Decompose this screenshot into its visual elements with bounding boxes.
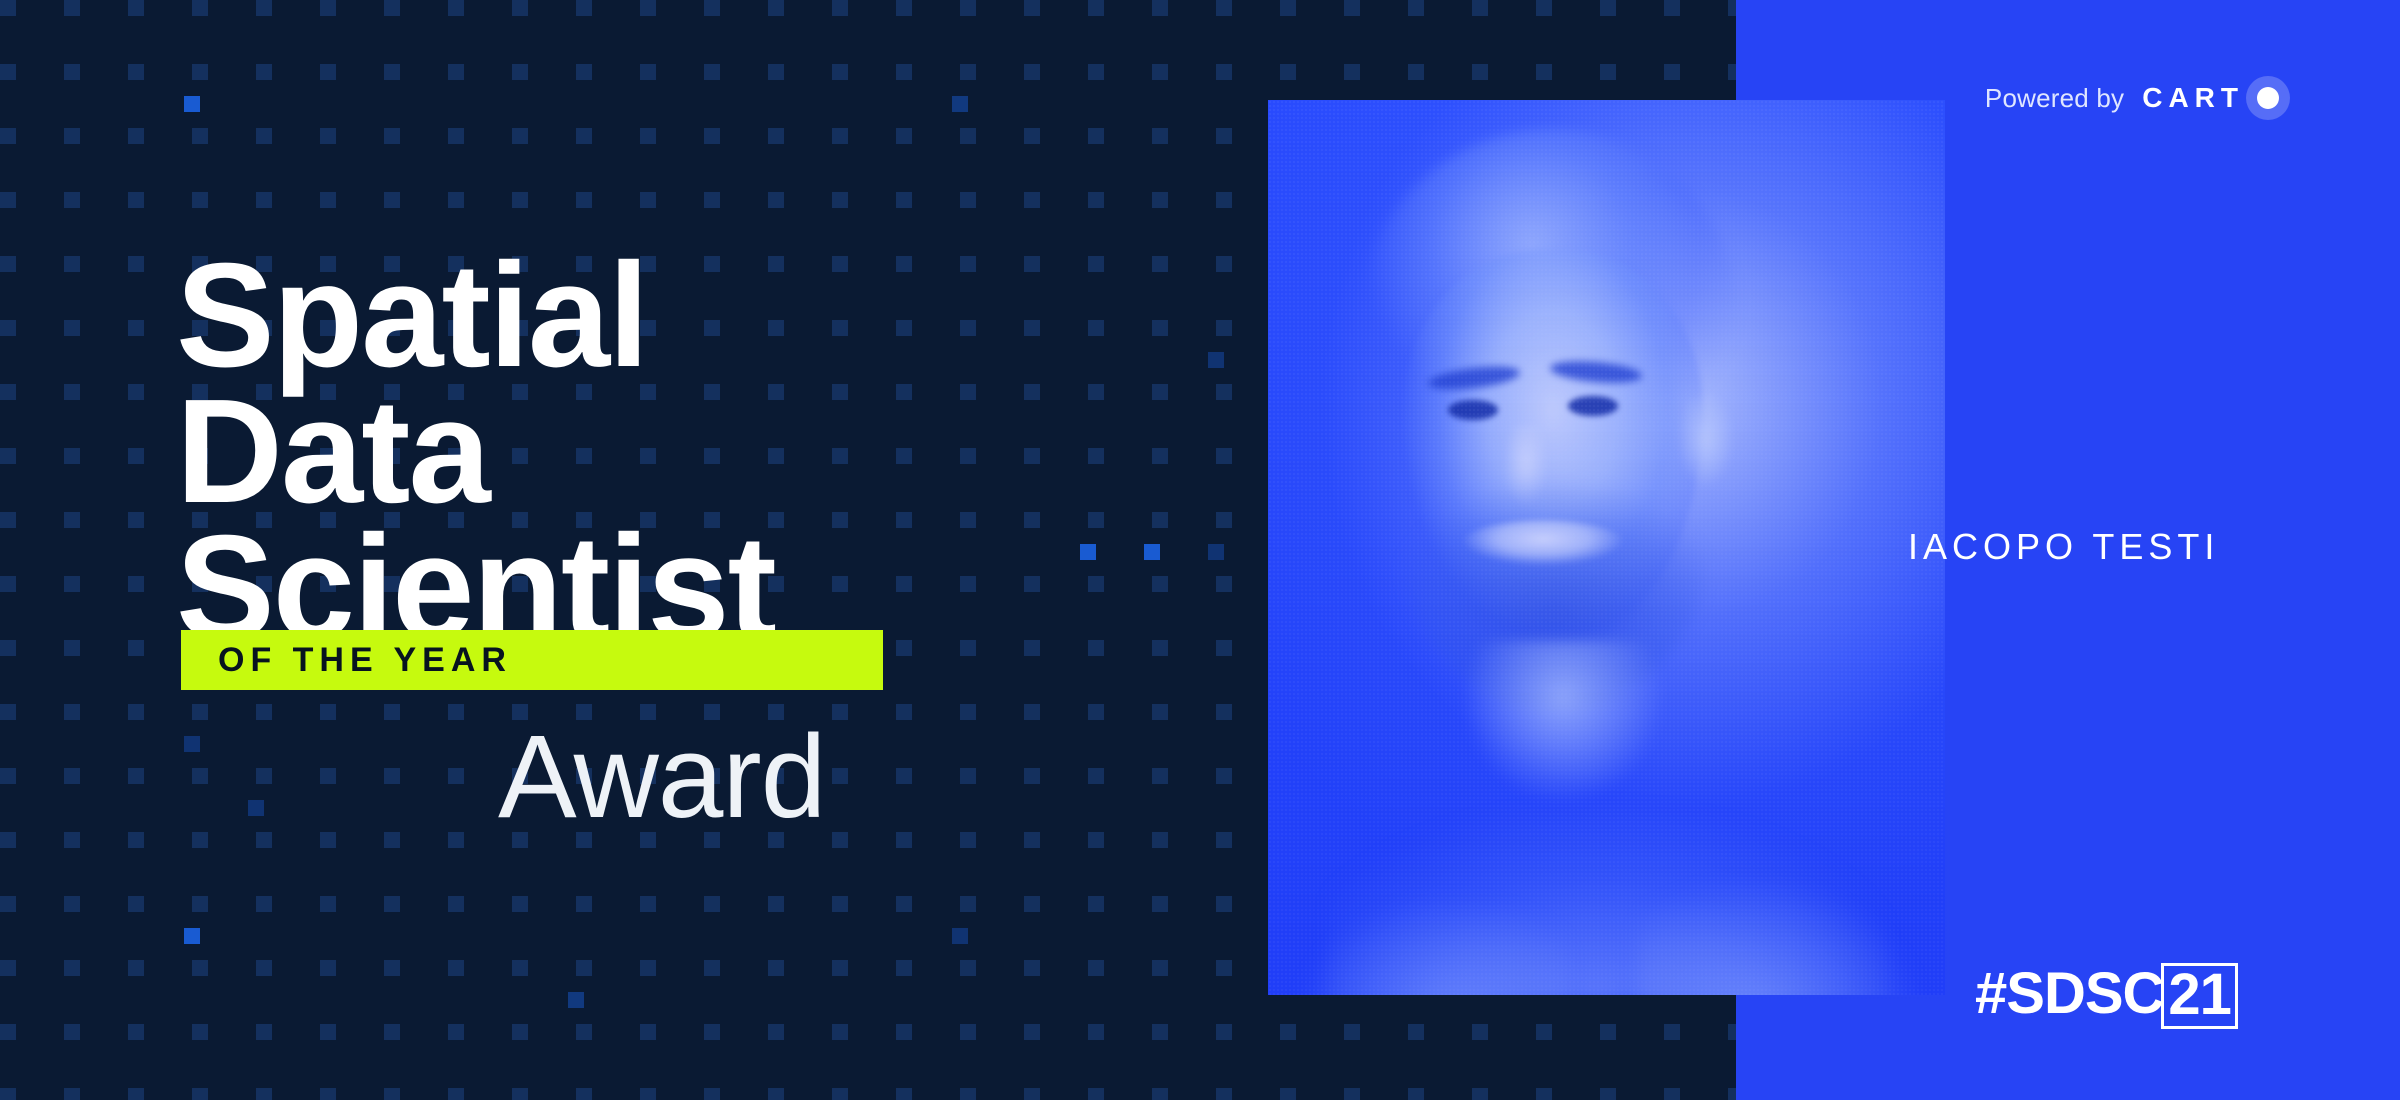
portrait-blue-duotone-tint (1268, 100, 1945, 995)
carto-logo[interactable]: CART (2142, 76, 2290, 120)
winner-portrait-photo (1268, 100, 1945, 995)
headline-block: Spatial Data Scientist (176, 248, 1176, 656)
accent-dot (952, 928, 968, 944)
accent-dot (184, 928, 200, 944)
accent-dot (1208, 544, 1224, 560)
accent-dot (248, 800, 264, 816)
award-banner-canvas: Spatial Data Scientist OF THE YEAR Award… (0, 0, 2400, 1100)
carto-circle-core (2257, 87, 2279, 109)
accent-dot (184, 96, 200, 112)
carto-circle-icon (2246, 76, 2290, 120)
accent-dot (184, 736, 200, 752)
powered-by-carto[interactable]: Powered by CART (1985, 76, 2290, 120)
hashtag-year-box: 21 (2161, 963, 2238, 1029)
accent-dot (568, 992, 584, 1008)
headline-line-2: Data (176, 384, 1176, 520)
carto-wordmark: CART (2142, 82, 2244, 114)
winner-name: IACOPO TESTI (1908, 526, 2219, 568)
accent-dot (952, 96, 968, 112)
of-the-year-label: OF THE YEAR (218, 641, 512, 680)
accent-dot (1208, 352, 1224, 368)
headline-line-1: Spatial (176, 248, 1176, 384)
award-word: Award (498, 718, 825, 836)
of-the-year-band: OF THE YEAR (181, 630, 883, 690)
event-hashtag: #SDSC 21 (1975, 963, 2238, 1029)
hashtag-main: #SDSC (1975, 963, 2163, 1029)
powered-by-label: Powered by (1985, 83, 2124, 114)
